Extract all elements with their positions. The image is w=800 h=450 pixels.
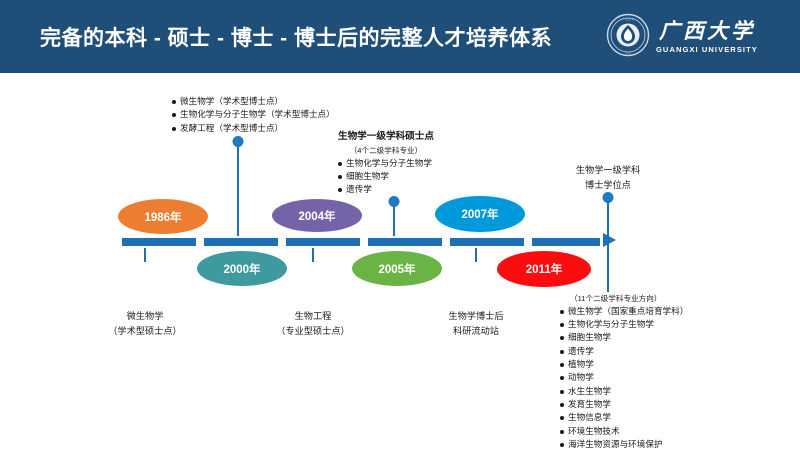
callout-bottom-2004: 生物工程 （专业型硕士点） xyxy=(253,309,373,338)
callout-bottom-right: （11个二级学科专业方向） 微生物学（国家重点培育学科） 生物化学与分子生物学 … xyxy=(560,293,688,450)
svg-text:广西大学: 广西大学 xyxy=(622,16,635,21)
list-item: 动物学 xyxy=(560,371,688,384)
callout-bottom-1986: 微生物学 （学术型硕士点） xyxy=(85,309,205,338)
callout-line-1: 生物学一级学科 xyxy=(548,163,668,178)
list-item: 发育生物学 xyxy=(560,398,688,411)
bullet-dot-icon xyxy=(172,127,176,131)
connector-tick-2004 xyxy=(307,248,319,262)
bullet-dot-icon xyxy=(560,416,564,420)
connector-tick-1986 xyxy=(139,248,151,262)
callout-bottom-2007: 生物学博士后 科研流动站 xyxy=(416,309,536,338)
bullet-dot-icon xyxy=(560,443,564,447)
milestone-year-label: 2000年 xyxy=(223,261,260,277)
connector-line xyxy=(144,248,146,262)
list-item: 生物化学与分子生物学 xyxy=(338,157,434,170)
list-item: 生物化学与分子生物学（学术型博士点） xyxy=(172,108,335,121)
list-item: 海洋生物资源与环境保护 xyxy=(560,438,688,450)
callout-line-2: （专业型硕士点） xyxy=(253,324,373,339)
list-item: 发酵工程（学术型博士点） xyxy=(172,122,335,135)
callout-subheading: （4个二级学科专业） xyxy=(338,145,434,157)
connector-line xyxy=(237,145,239,236)
bullet-dot-icon xyxy=(560,336,564,340)
callout-top-middle: 生物学一级学科硕士点 （4个二级学科专业） 生物化学与分子生物学 细胞生物学 遗… xyxy=(338,130,434,197)
list-item: 遗传学 xyxy=(560,345,688,358)
milestone-2005[interactable]: 2005年 xyxy=(352,251,442,286)
logo-wordmark: 广西大学 GUANGXI UNIVERSITY xyxy=(656,20,758,53)
milestone-year-label: 1986年 xyxy=(144,209,181,225)
connector-line xyxy=(475,248,477,262)
callout-line-2: 科研流动站 xyxy=(416,324,536,339)
milestone-2000[interactable]: 2000年 xyxy=(197,251,287,286)
bullet-dot-icon xyxy=(172,100,176,104)
bullet-dot-icon xyxy=(560,430,564,434)
list-item: 生物化学与分子生物学 xyxy=(560,318,688,331)
list-item: 环境生物技术 xyxy=(560,425,688,438)
callout-top-left: 微生物学（学术型博士点） 生物化学与分子生物学（学术型博士点） 发酵工程（学术型… xyxy=(172,95,335,135)
bullet-dot-icon xyxy=(560,376,564,380)
milestone-2004[interactable]: 2004年 xyxy=(272,199,362,232)
list-item: 细胞生物学 xyxy=(560,331,688,344)
timeline-segment xyxy=(122,238,196,246)
bullet-dot-icon xyxy=(560,323,564,327)
timeline-segment xyxy=(368,238,442,246)
bullet-dot-icon xyxy=(338,188,342,192)
connector-tick-2007 xyxy=(470,248,482,262)
bullet-dot-icon xyxy=(560,390,564,394)
bullet-dot-icon xyxy=(560,403,564,407)
callout-line-1: 生物工程 xyxy=(253,309,373,324)
bullet-dot-icon xyxy=(560,310,564,314)
timeline-segment xyxy=(450,238,524,246)
callout-subheading: （11个二级学科专业方向） xyxy=(560,293,688,305)
logo-name-cn: 广西大学 xyxy=(659,20,755,42)
connector-line xyxy=(393,205,395,236)
list-item: 细胞生物学 xyxy=(338,170,434,183)
list-item: 生物信息学 xyxy=(560,411,688,424)
page-title: 完备的本科 - 硕士 - 博士 - 博士后的完整人才培养体系 xyxy=(40,22,552,52)
milestone-year-label: 2005年 xyxy=(378,261,415,277)
milestone-2011[interactable]: 2011年 xyxy=(497,251,591,287)
connector-1986-doctoral xyxy=(232,136,244,236)
callout-top-right: 生物学一级学科 博士学位点 xyxy=(548,163,668,192)
callout-line-1: 微生物学 xyxy=(85,309,205,324)
list-item: 植物学 xyxy=(560,358,688,371)
svg-text:1928: 1928 xyxy=(625,51,632,55)
callout-line-1: 生物学博士后 xyxy=(416,309,536,324)
university-logo: 广西大学 1928 广西大学 GUANGXI UNIVERSITY xyxy=(606,12,776,62)
callout-line-2: （学术型硕士点） xyxy=(85,324,205,339)
bullet-dot-icon xyxy=(338,175,342,179)
university-seal-icon: 广西大学 1928 xyxy=(606,13,650,62)
logo-name-en: GUANGXI UNIVERSITY xyxy=(656,45,758,54)
callout-heading: 生物学一级学科硕士点 xyxy=(338,130,434,145)
bullet-dot-icon xyxy=(560,363,564,367)
slide-canvas: 完备的本科 - 硕士 - 博士 - 博士后的完整人才培养体系 广西大学 1928… xyxy=(0,0,800,450)
milestone-year-label: 2011年 xyxy=(526,261,562,277)
list-item: 微生物学（国家重点培育学科） xyxy=(560,305,688,318)
milestone-year-label: 2004年 xyxy=(298,208,335,224)
bullet-dot-icon xyxy=(338,162,342,166)
connector-line xyxy=(312,248,314,262)
slide-header: 完备的本科 - 硕士 - 博士 - 博士后的完整人才培养体系 广西大学 1928… xyxy=(0,0,800,73)
arrow-right-icon xyxy=(603,233,616,247)
list-item: 遗传学 xyxy=(338,183,434,196)
list-item: 微生物学（学术型博士点） xyxy=(172,95,335,108)
bullet-dot-icon xyxy=(172,113,176,117)
timeline-segment xyxy=(532,238,600,246)
milestone-1986[interactable]: 1986年 xyxy=(118,199,208,234)
timeline-segment xyxy=(286,238,360,246)
timeline-segment xyxy=(204,238,278,246)
milestone-2007[interactable]: 2007年 xyxy=(435,196,525,232)
list-item: 水生生物学 xyxy=(560,385,688,398)
bullet-dot-icon xyxy=(560,350,564,354)
connector-2004-master xyxy=(388,196,400,236)
timeline-arrow xyxy=(122,236,614,248)
callout-line-2: 博士学位点 xyxy=(548,178,668,193)
milestone-year-label: 2007年 xyxy=(461,206,498,222)
